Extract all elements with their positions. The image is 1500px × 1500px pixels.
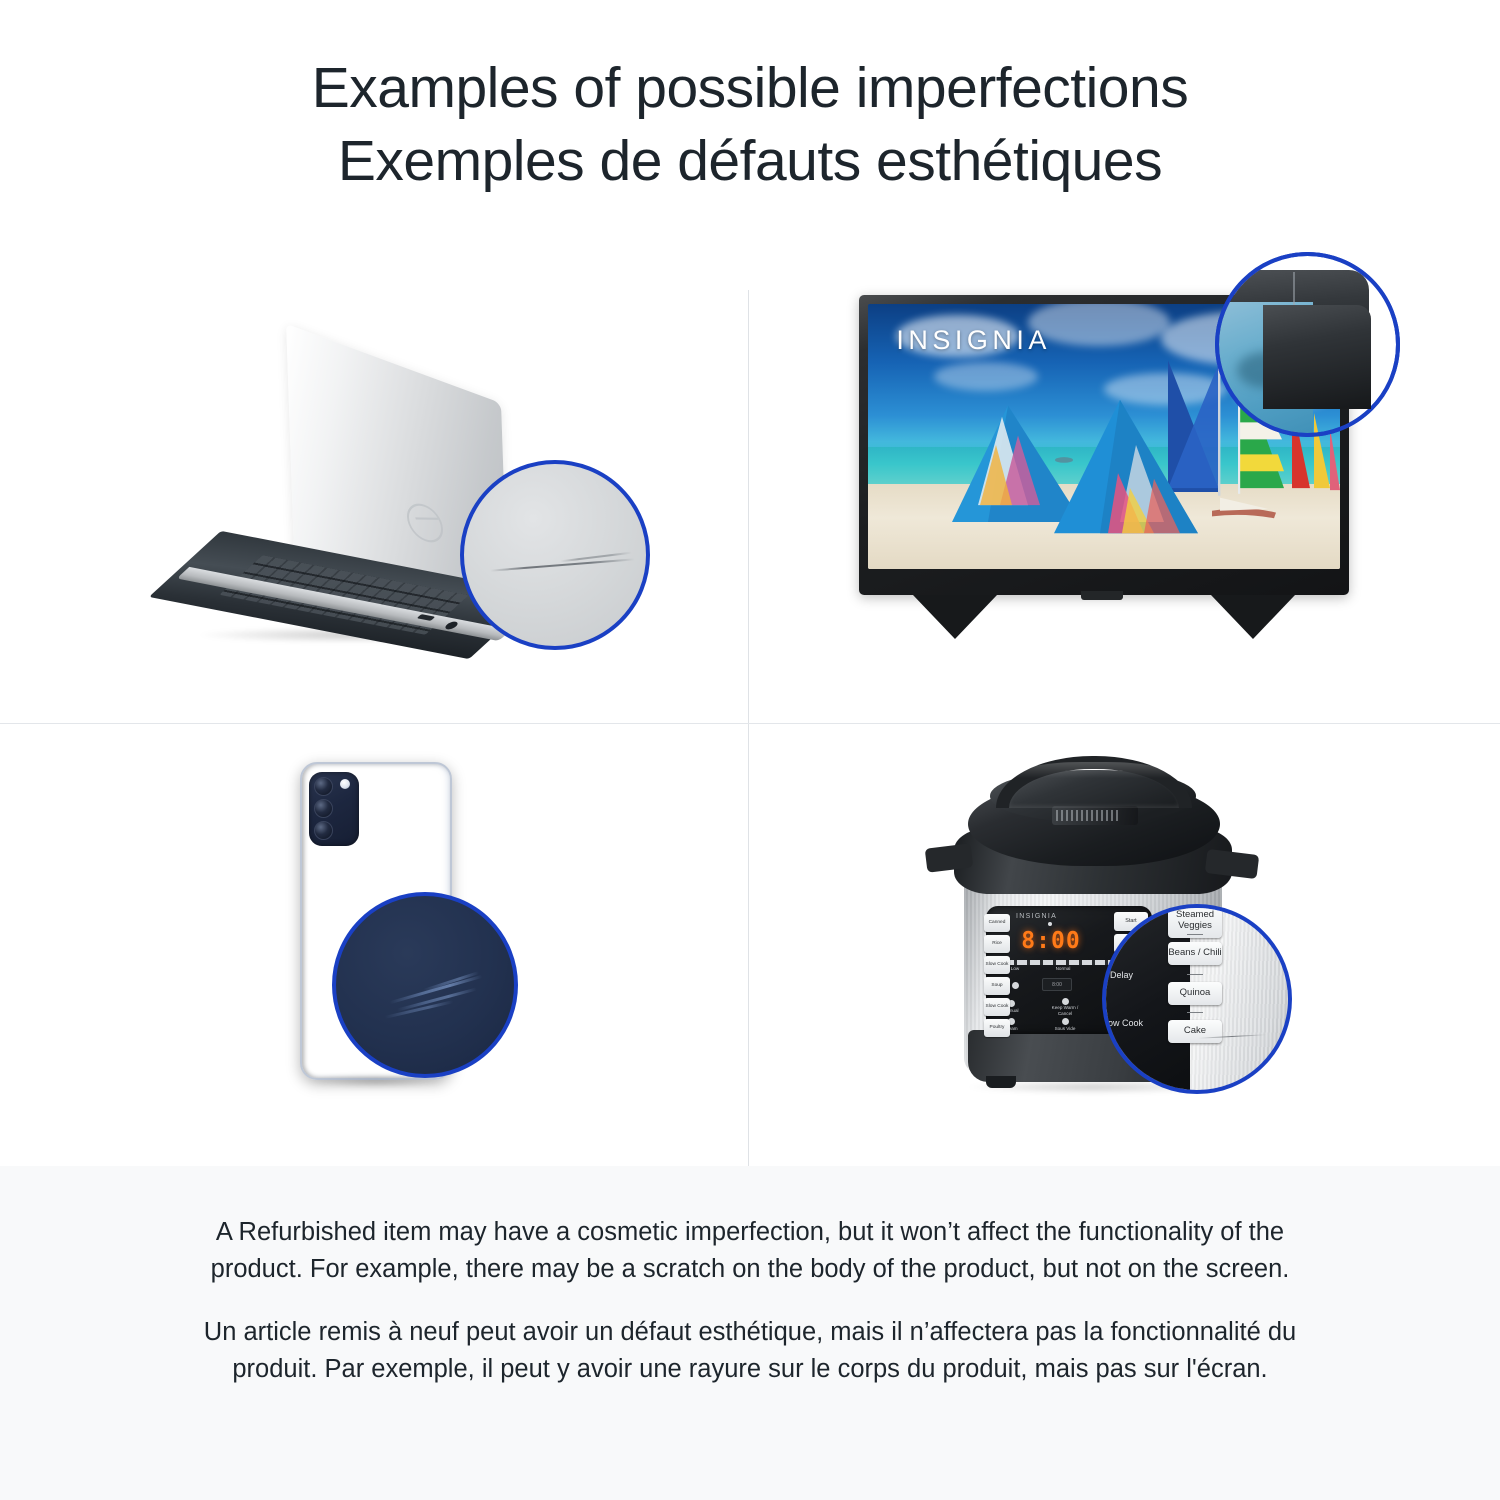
header: Examples of possible imperfections Exemp… — [0, 0, 1500, 250]
zoomed-divider-tick — [1187, 974, 1203, 975]
cooker-handle-highlight — [1010, 762, 1178, 778]
cooker-button-slow-cook-left[interactable]: Slow Cook — [984, 956, 1010, 974]
cooker-label-normal: Normal — [1046, 966, 1080, 972]
cooker-foot — [986, 1076, 1016, 1088]
zoomed-button-beans-chili: Beans / Chili — [1168, 942, 1222, 965]
cooker-button-keep-warm[interactable] — [1062, 998, 1069, 1005]
page-title-en: Examples of possible imperfections — [312, 55, 1188, 122]
phone-illustration — [300, 762, 480, 1122]
camera-module — [309, 772, 359, 846]
cooker-label-sous-vide: Sous Vide — [1048, 1026, 1082, 1032]
camera-flash-icon — [340, 779, 350, 789]
insignia-screen-logo: INSIGNIA — [896, 325, 1051, 356]
panel-pressure-cooker: INSIGNIA 8:00 Low Normal More 8:00 — [749, 724, 1500, 1166]
cooker-button-slow-cook-left-2[interactable]: Slow Cook — [984, 998, 1010, 1016]
zoomed-button-quinoa: Quinoa — [1168, 982, 1222, 1005]
footer-paragraph-fr: Un article remis à neuf peut avoir un dé… — [180, 1314, 1320, 1388]
cooker-lid-label — [1052, 806, 1138, 825]
footer-paragraph-en: A Refurbished item may have a cosmetic i… — [180, 1214, 1320, 1288]
cooker-brand-label: INSIGNIA — [1016, 913, 1057, 920]
tv-illustration: INSIGNIA — [859, 295, 1379, 675]
cooker-button-rice[interactable]: Rice — [984, 935, 1010, 953]
panel-television: INSIGNIA — [749, 250, 1500, 723]
tv-leg-right — [1211, 595, 1295, 639]
cooker-led-display: 8:00 — [1018, 928, 1084, 954]
camera-lens-icon — [314, 777, 333, 796]
panel-laptop — [0, 250, 748, 723]
cooker-illustration: INSIGNIA 8:00 Low Normal More 8:00 — [934, 754, 1304, 1134]
footer-description: A Refurbished item may have a cosmetic i… — [0, 1166, 1500, 1500]
refurbished-imperfections-infographic: Examples of possible imperfections Exemp… — [0, 0, 1500, 1500]
tv-brand-badge — [1081, 591, 1123, 600]
cooker-label-keep-warm: Keep Warm / Cancel — [1048, 1005, 1082, 1016]
camera-lens-icon — [314, 821, 333, 840]
cooker-button-canned[interactable]: Canned — [984, 914, 1010, 932]
cooker-timer-button[interactable]: 8:00 — [1042, 978, 1072, 991]
cooker-button-soup[interactable]: Soup — [984, 977, 1010, 995]
zoomed-divider-tick — [1187, 934, 1203, 935]
tv-leg-left — [913, 595, 997, 639]
cooker-minus-button[interactable] — [1012, 982, 1019, 989]
page-title-fr: Exemples de défauts esthétiques — [338, 128, 1162, 195]
cooker-button-sous-vide[interactable] — [1062, 1018, 1069, 1025]
magnifier-phone-scratches — [332, 892, 518, 1078]
examples-grid: INSIGNIA — [0, 250, 1500, 1166]
zoomed-label-delay: Delay — [1110, 970, 1133, 980]
laptop-illustration — [175, 365, 595, 655]
magnifier-cooker-scratch: Steamed Veggies Beans / Chili Quinoa Cak… — [1102, 904, 1292, 1094]
zoomed-label-slow-cook: Slow Cook — [1102, 1018, 1143, 1028]
zoomed-button-steamed-veggies: Steamed Veggies — [1168, 904, 1222, 938]
cooker-button-poultry[interactable]: Poultry — [984, 1019, 1010, 1037]
panel-smartphone — [0, 724, 748, 1166]
tv-bezel-corner — [1263, 305, 1371, 409]
zoomed-button-cake: Cake — [1168, 1020, 1222, 1043]
magnifier-laptop-scratch — [460, 460, 650, 650]
scratch-line — [397, 987, 477, 1011]
zoomed-divider-tick — [1187, 1012, 1203, 1013]
camera-lens-icon — [314, 799, 333, 818]
status-indicator-dot — [1048, 922, 1052, 926]
